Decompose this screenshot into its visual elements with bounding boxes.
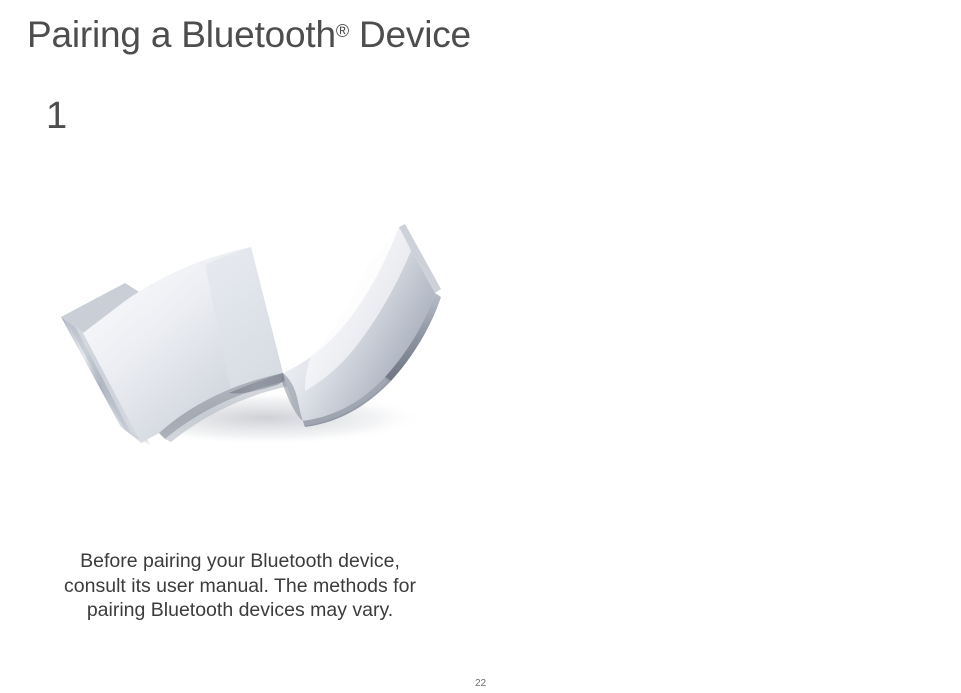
step-number-1: 1 <box>46 97 67 135</box>
step-1-caption: Before pairing your Bluetooth device, co… <box>48 549 432 623</box>
step-column-2: 2 Programs (1) <box>480 0 961 693</box>
open-book-illustration <box>55 205 455 465</box>
page-number: 22 <box>0 678 961 689</box>
step-column-1: 1 <box>0 0 480 693</box>
step-1-caption-text: Before pairing your Bluetooth device, co… <box>64 550 416 621</box>
